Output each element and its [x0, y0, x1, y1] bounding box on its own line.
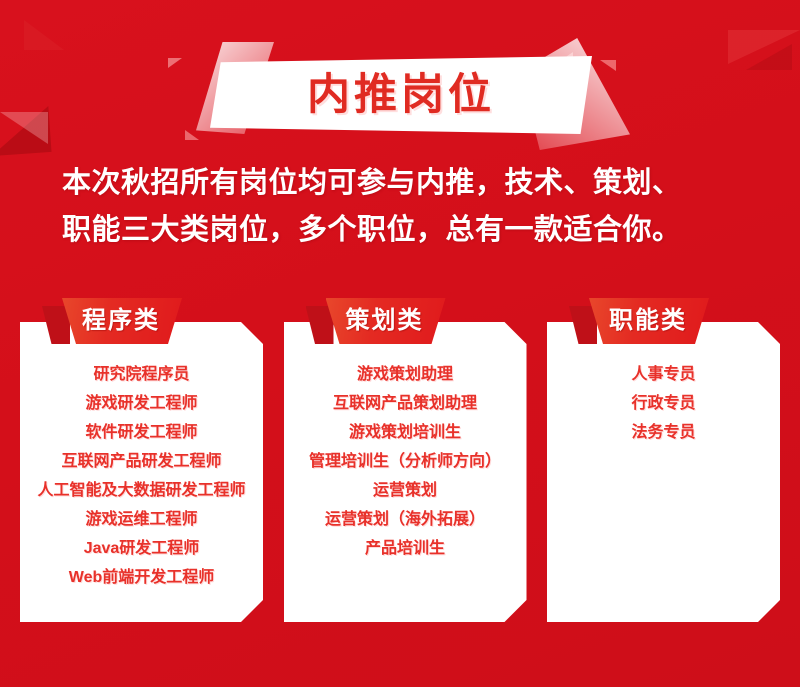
- job-item[interactable]: 互联网产品策划助理: [294, 389, 517, 418]
- job-item[interactable]: 人事专员: [557, 360, 770, 389]
- recruitment-poster: 内推岗位 本次秋招所有岗位均可参与内推，技术、策划、 职能三大类岗位，多个职位，…: [0, 0, 800, 687]
- job-item[interactable]: 软件研发工程师: [30, 418, 253, 447]
- job-list: 游戏策划助理 互联网产品策划助理 游戏策划培训生 管理培训生（分析师方向） 运营…: [284, 322, 527, 563]
- job-item[interactable]: 法务专员: [557, 418, 770, 447]
- job-item[interactable]: Java研发工程师: [30, 534, 253, 563]
- job-list: 研究院程序员 游戏研发工程师 软件研发工程师 互联网产品研发工程师 人工智能及大…: [20, 322, 263, 592]
- job-item[interactable]: 互联网产品研发工程师: [30, 447, 253, 476]
- job-item[interactable]: 运营策划: [294, 476, 517, 505]
- subtitle-line-1: 本次秋招所有岗位均可参与内推，技术、策划、: [62, 160, 742, 207]
- category-tag-label: 策划类: [346, 309, 424, 333]
- job-item[interactable]: 管理培训生（分析师方向）: [294, 447, 517, 476]
- subtitle: 本次秋招所有岗位均可参与内推，技术、策划、 职能三大类岗位，多个职位，总有一款适…: [62, 160, 742, 254]
- category-tag-program[interactable]: 程序类: [62, 298, 182, 344]
- job-item[interactable]: 研究院程序员: [30, 360, 253, 389]
- category-tag-label: 职能类: [609, 309, 687, 333]
- category-column-planning: 游戏策划助理 互联网产品策划助理 游戏策划培训生 管理培训生（分析师方向） 运营…: [284, 298, 527, 638]
- category-columns: 研究院程序员 游戏研发工程师 软件研发工程师 互联网产品研发工程师 人工智能及大…: [0, 298, 800, 638]
- job-item[interactable]: 游戏策划助理: [294, 360, 517, 389]
- job-item[interactable]: Web前端开发工程师: [30, 563, 253, 592]
- category-tag-label: 程序类: [82, 309, 160, 333]
- category-column-program: 研究院程序员 游戏研发工程师 软件研发工程师 互联网产品研发工程师 人工智能及大…: [20, 298, 263, 638]
- category-column-function: 人事专员 行政专员 法务专员 职能类: [547, 298, 780, 638]
- job-item[interactable]: 行政专员: [557, 389, 770, 418]
- job-item[interactable]: 运营策划（海外拓展）: [294, 505, 517, 534]
- subtitle-line-2: 职能三大类岗位，多个职位，总有一款适合你。: [62, 207, 742, 254]
- page-title: 内推岗位: [307, 74, 495, 117]
- category-tag-planning[interactable]: 策划类: [326, 298, 446, 344]
- category-tag-function[interactable]: 职能类: [589, 298, 709, 344]
- job-item[interactable]: 游戏研发工程师: [30, 389, 253, 418]
- ribbon-plate: 内推岗位: [210, 56, 592, 134]
- job-item[interactable]: 产品培训生: [294, 534, 517, 563]
- job-item[interactable]: 游戏策划培训生: [294, 418, 517, 447]
- job-item[interactable]: 人工智能及大数据研发工程师: [30, 476, 253, 505]
- title-banner: 内推岗位: [0, 42, 800, 148]
- job-item[interactable]: 游戏运维工程师: [30, 505, 253, 534]
